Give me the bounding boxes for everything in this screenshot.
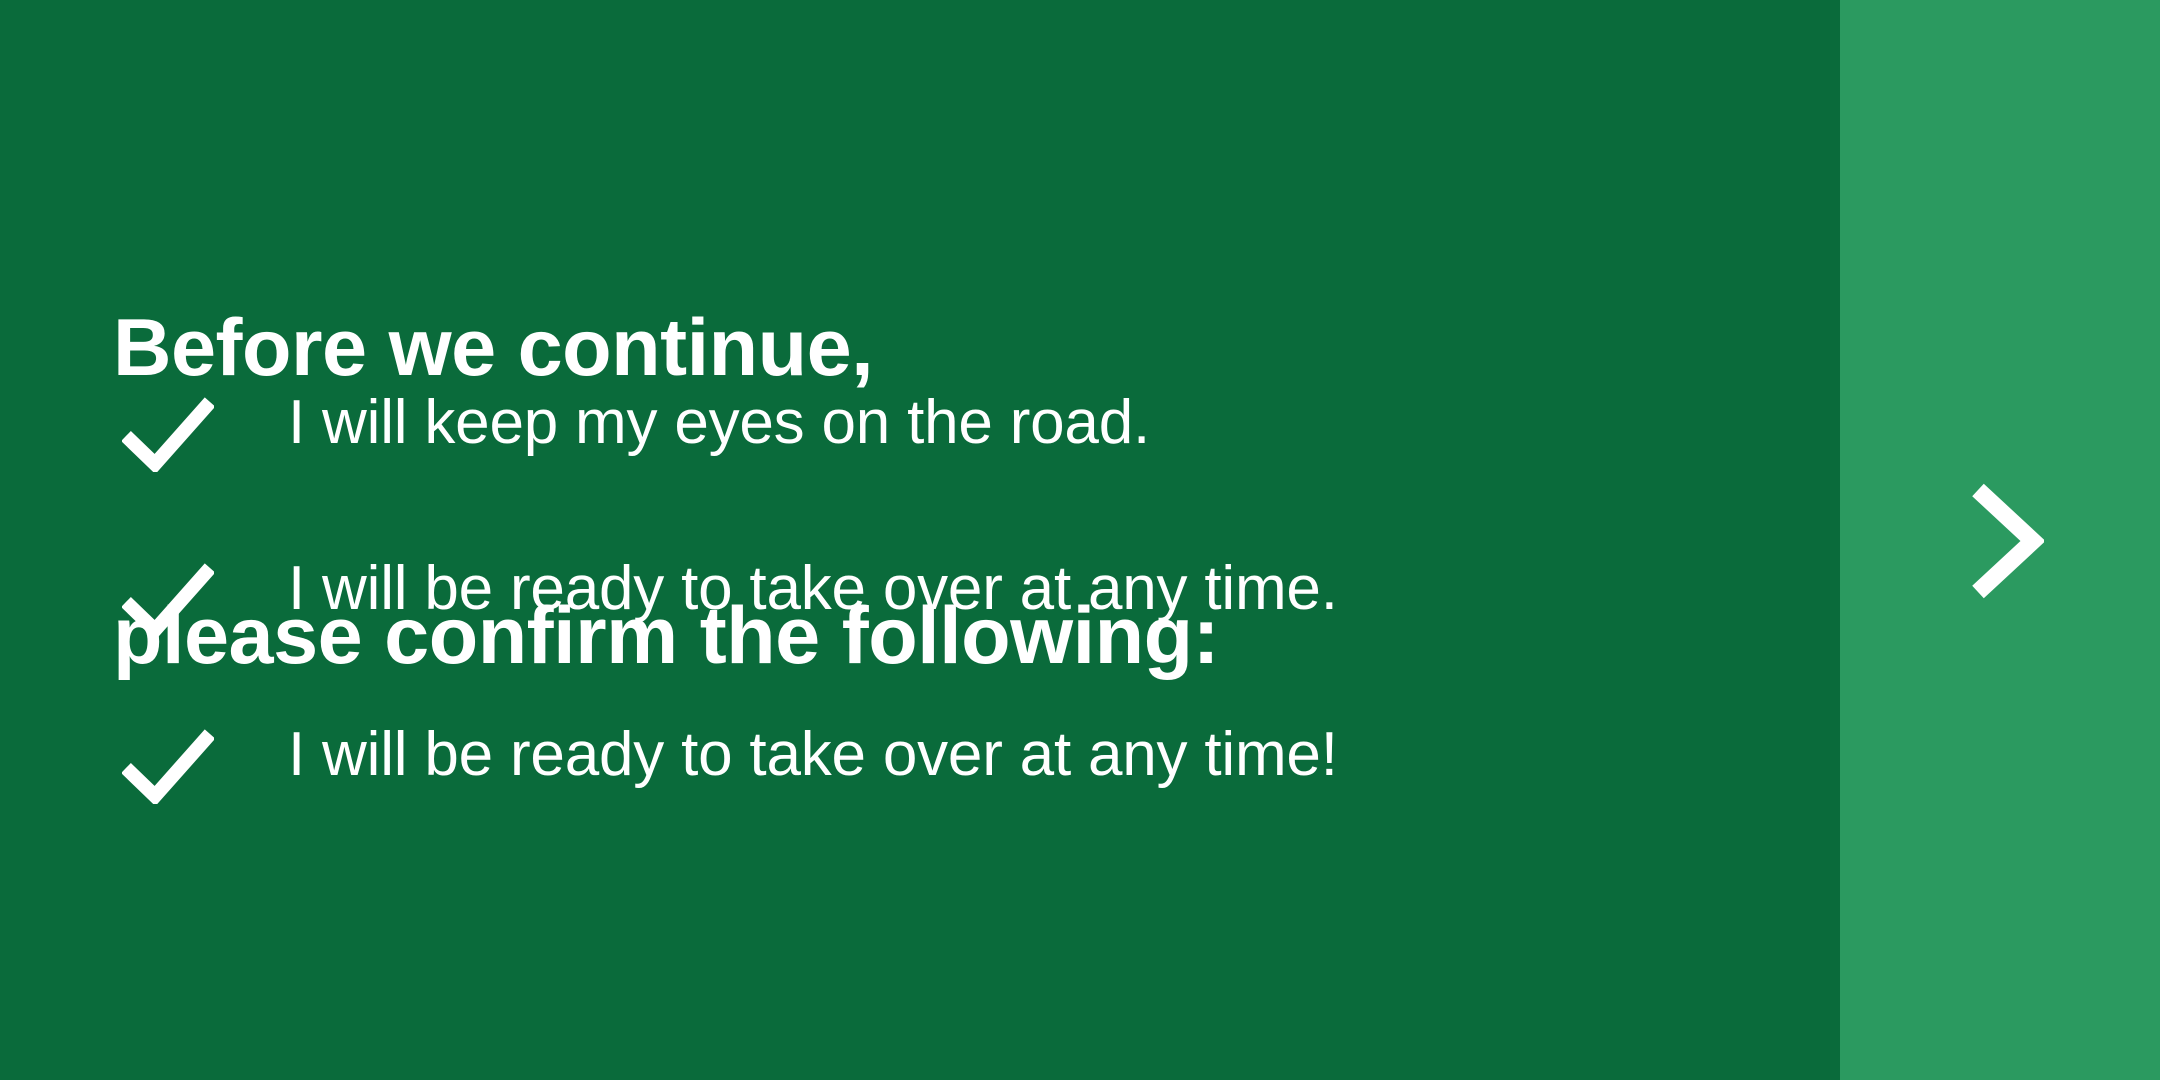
checklist-item[interactable]: I will keep my eyes on the road.	[0, 384, 1840, 550]
checklist-item[interactable]: I will be ready to take over at any time…	[0, 716, 1840, 882]
checklist-item-label: I will be ready to take over at any time…	[288, 550, 1338, 628]
check-icon	[122, 396, 214, 472]
checklist-item[interactable]: I will be ready to take over at any time…	[0, 550, 1840, 716]
chevron-right-icon	[1966, 482, 2044, 600]
confirmation-panel: Before we continue, please confirm the f…	[0, 0, 1840, 1080]
check-icon	[122, 728, 214, 804]
checklist-item-label: I will be ready to take over at any time…	[288, 716, 1338, 794]
confirmation-screen: Before we continue, please confirm the f…	[0, 0, 2160, 1080]
checklist-item-label: I will keep my eyes on the road.	[288, 384, 1150, 462]
page-title-line-1: Before we continue,	[113, 300, 1219, 396]
confirmation-checklist: I will keep my eyes on the road. I will …	[0, 384, 1840, 882]
next-button[interactable]	[1840, 0, 2160, 1080]
check-icon	[122, 562, 214, 638]
